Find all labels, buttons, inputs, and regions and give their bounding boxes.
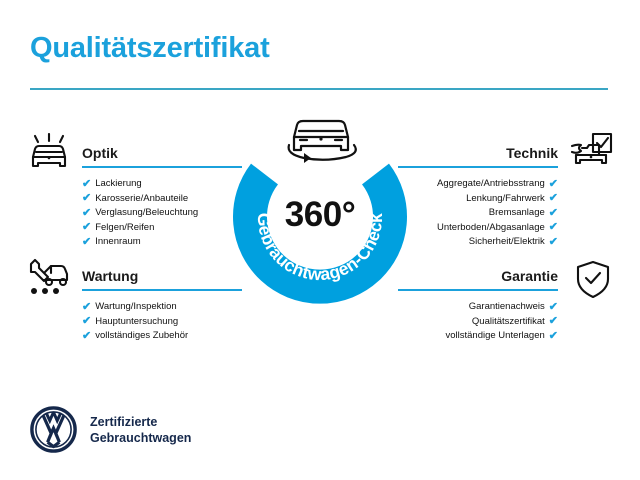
footer-brand: Zertifizierte Gebrauchtwagen bbox=[30, 406, 191, 453]
section-wartung: Wartung ✔Wartung/Inspektion ✔Hauptunters… bbox=[82, 268, 242, 344]
list-item-label: Innenraum bbox=[95, 235, 140, 250]
badge-360-gebrauchtwagen-check: Gebrauchtwagen-Check 360° bbox=[228, 126, 412, 310]
car-shine-icon bbox=[27, 133, 71, 178]
check-icon: ✔ bbox=[549, 222, 558, 233]
section-optik: Optik ✔Lackierung ✔Karosserie/Anbauteile… bbox=[82, 145, 242, 250]
list-item-label: Aggregate/Antriebsstrang bbox=[437, 177, 545, 192]
brand-line-1: Zertifizierte bbox=[90, 414, 191, 430]
section-divider bbox=[82, 166, 242, 168]
car-checkbox-icon bbox=[568, 132, 614, 179]
list-item-label: Lackierung bbox=[95, 177, 141, 192]
list-item: Sicherheit/Elektrik✔ bbox=[398, 235, 558, 250]
section-heading: Optik bbox=[82, 145, 242, 161]
list-item-label: Sicherheit/Elektrik bbox=[469, 235, 545, 250]
check-icon: ✔ bbox=[82, 208, 91, 219]
check-icon: ✔ bbox=[549, 316, 558, 327]
section-divider bbox=[398, 166, 558, 168]
list-item-label: Karosserie/Anbauteile bbox=[95, 192, 188, 207]
section-heading: Garantie bbox=[398, 268, 558, 284]
check-icon: ✔ bbox=[82, 179, 91, 190]
list-item: Bremsanlage✔ bbox=[398, 206, 558, 221]
list-item: Qualitätszertifikat✔ bbox=[398, 315, 558, 330]
list-item-label: Bremsanlage bbox=[489, 206, 545, 221]
list-item: ✔vollständiges Zubehör bbox=[82, 329, 242, 344]
list-item: Lenkung/Fahrwerk✔ bbox=[398, 192, 558, 207]
check-icon: ✔ bbox=[549, 208, 558, 219]
check-icon: ✔ bbox=[549, 179, 558, 190]
check-icon: ✔ bbox=[82, 316, 91, 327]
check-icon: ✔ bbox=[82, 302, 91, 313]
car-wrench-icon bbox=[27, 258, 71, 303]
section-technik: Technik Aggregate/Antriebsstrang✔ Lenkun… bbox=[398, 145, 558, 250]
list-item: ✔Felgen/Reifen bbox=[82, 221, 242, 236]
list-item: ✔Karosserie/Anbauteile bbox=[82, 192, 242, 207]
list-item: ✔Lackierung bbox=[82, 177, 242, 192]
certificate-page: Qualitätszertifikat bbox=[0, 0, 640, 480]
list-item-label: Verglasung/Beleuchtung bbox=[95, 206, 198, 221]
check-icon: ✔ bbox=[82, 331, 91, 342]
section-heading: Technik bbox=[398, 145, 558, 161]
list-item: ✔Innenraum bbox=[82, 235, 242, 250]
list-item-label: vollständige Unterlagen bbox=[445, 329, 544, 344]
check-icon: ✔ bbox=[549, 193, 558, 204]
section-divider bbox=[398, 289, 558, 291]
car-rotate-icon bbox=[280, 112, 362, 168]
list-item-label: Lenkung/Fahrwerk bbox=[466, 192, 545, 207]
list-item: ✔Verglasung/Beleuchtung bbox=[82, 206, 242, 221]
list-item-label: Garantienachweis bbox=[469, 300, 545, 315]
list-item: ✔Wartung/Inspektion bbox=[82, 300, 242, 315]
section-list: ✔Lackierung ✔Karosserie/Anbauteile ✔Verg… bbox=[82, 177, 242, 250]
list-item: ✔Hauptuntersuchung bbox=[82, 315, 242, 330]
list-item: Garantienachweis✔ bbox=[398, 300, 558, 315]
title-divider bbox=[30, 88, 608, 90]
section-list: Aggregate/Antriebsstrang✔ Lenkung/Fahrwe… bbox=[398, 177, 558, 250]
list-item: Unterboden/Abgasanlage✔ bbox=[398, 221, 558, 236]
check-icon: ✔ bbox=[549, 302, 558, 313]
shield-check-icon bbox=[574, 259, 612, 306]
list-item-label: Felgen/Reifen bbox=[95, 221, 154, 236]
check-icon: ✔ bbox=[82, 193, 91, 204]
check-icon: ✔ bbox=[549, 237, 558, 248]
section-divider bbox=[82, 289, 242, 291]
section-heading: Wartung bbox=[82, 268, 242, 284]
list-item-label: Qualitätszertifikat bbox=[472, 315, 545, 330]
volkswagen-logo bbox=[30, 406, 77, 453]
section-garantie: Garantie Garantienachweis✔ Qualitätszert… bbox=[398, 268, 558, 344]
check-icon: ✔ bbox=[82, 237, 91, 248]
list-item-label: Wartung/Inspektion bbox=[95, 300, 177, 315]
list-item-label: Hauptuntersuchung bbox=[95, 315, 178, 330]
list-item: vollständige Unterlagen✔ bbox=[398, 329, 558, 344]
list-item-label: vollständiges Zubehör bbox=[95, 329, 188, 344]
list-item: Aggregate/Antriebsstrang✔ bbox=[398, 177, 558, 192]
brand-line-2: Gebrauchtwagen bbox=[90, 430, 191, 446]
check-icon: ✔ bbox=[82, 222, 91, 233]
section-list: ✔Wartung/Inspektion ✔Hauptuntersuchung ✔… bbox=[82, 300, 242, 344]
page-title: Qualitätszertifikat bbox=[30, 32, 270, 65]
list-item-label: Unterboden/Abgasanlage bbox=[437, 221, 545, 236]
check-icon: ✔ bbox=[549, 331, 558, 342]
section-list: Garantienachweis✔ Qualitätszertifikat✔ v… bbox=[398, 300, 558, 344]
